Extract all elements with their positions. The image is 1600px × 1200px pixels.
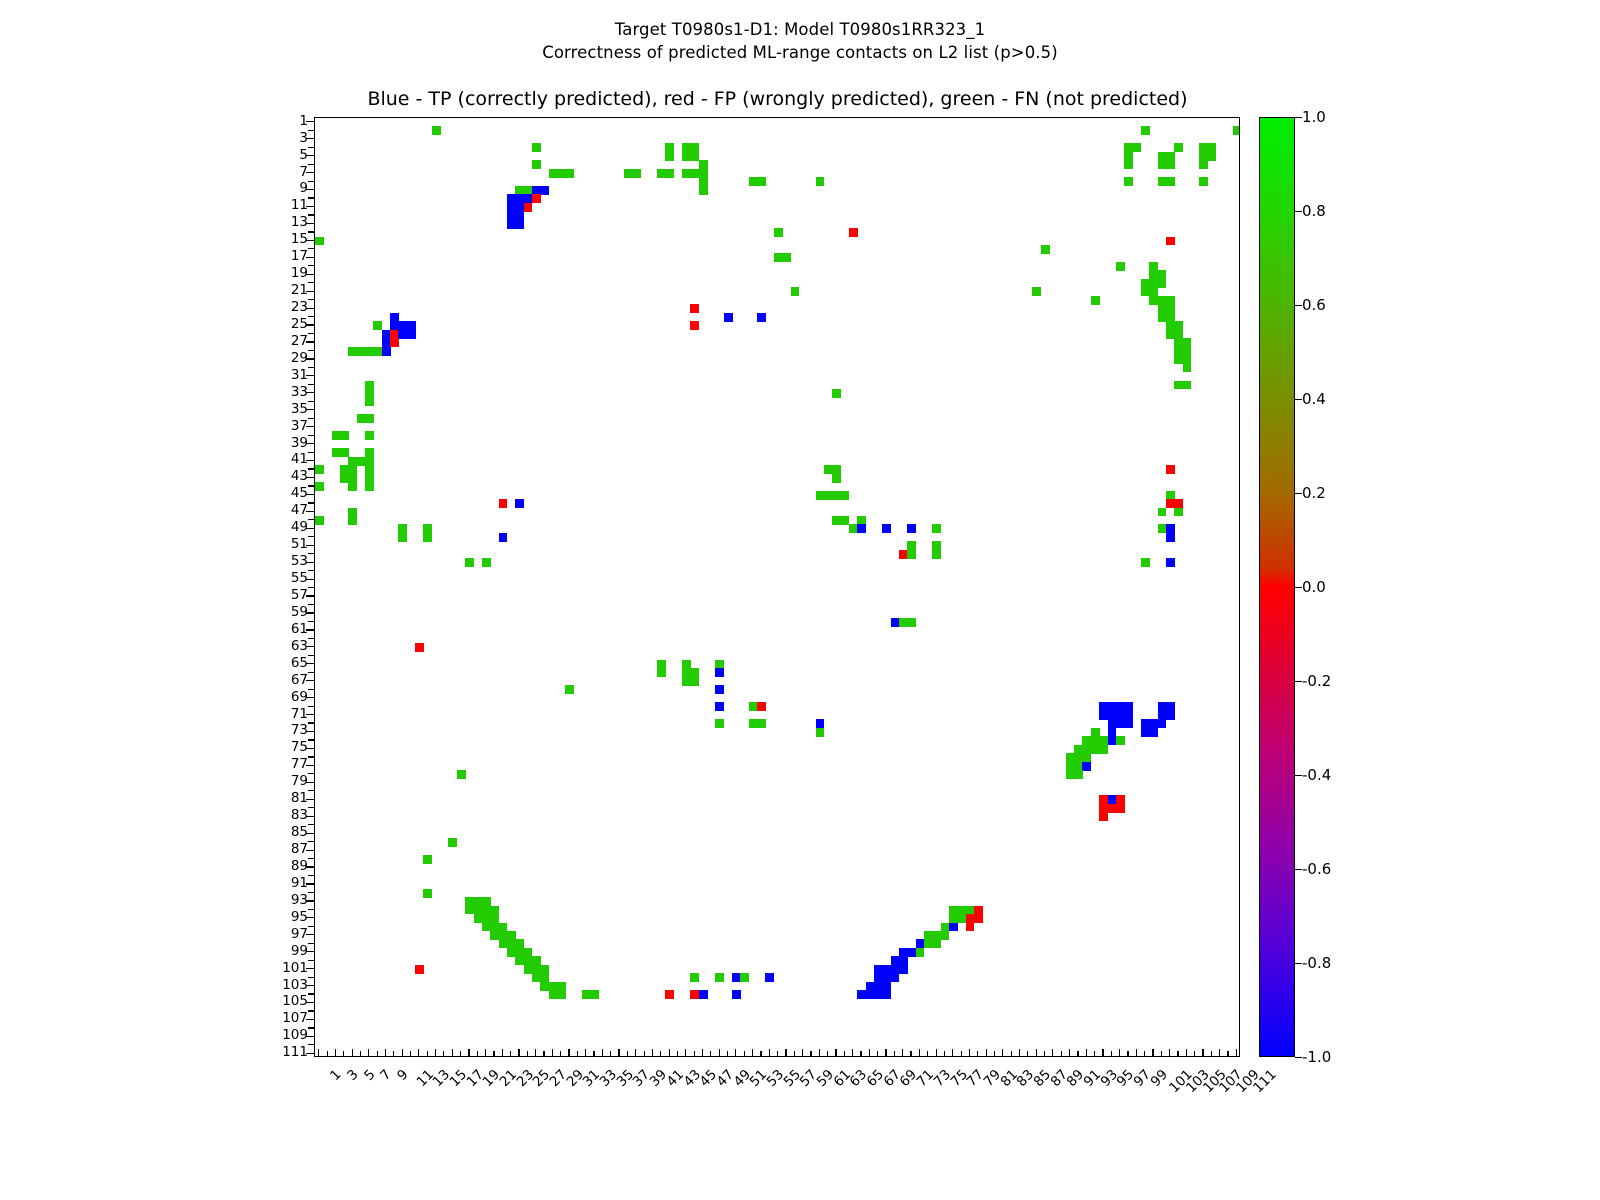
- x-tick: [352, 1049, 353, 1057]
- y-tick: [308, 468, 314, 469]
- y-tick: [308, 502, 314, 503]
- y-tick: [308, 621, 314, 622]
- x-axis-labels: 1357911131517192123252729313335373941434…: [314, 1062, 1274, 1182]
- y-axis-labels: 1357911131517192123252729313335373941434…: [262, 117, 308, 1057]
- y-tick-label: 53: [266, 555, 308, 569]
- y-tick-label: 61: [266, 623, 308, 637]
- x-tick: [1194, 1051, 1195, 1057]
- x-tick: [794, 1051, 795, 1057]
- y-tick: [308, 756, 314, 757]
- x-tick: [327, 1051, 328, 1057]
- x-tick: [644, 1051, 645, 1057]
- x-tick: [1227, 1051, 1228, 1057]
- y-tick-label: 49: [266, 521, 308, 535]
- y-tick-label: 93: [266, 894, 308, 908]
- x-tick: [460, 1051, 461, 1057]
- x-tick-label: 9: [395, 1068, 411, 1084]
- x-tick: [652, 1049, 653, 1057]
- x-tick: [1036, 1049, 1037, 1057]
- y-tick-label: 77: [266, 758, 308, 772]
- y-tick-label: 107: [266, 1012, 308, 1026]
- colorbar-labels: 1.00.80.60.40.20.0-0.2-0.4-0.6-0.8-1.0: [1302, 117, 1382, 1057]
- figure-title-line2: Correctness of predicted ML-range contac…: [0, 41, 1600, 64]
- x-tick: [360, 1051, 361, 1057]
- x-tick: [735, 1049, 736, 1057]
- colorbar-tick: [1295, 587, 1302, 588]
- y-tick-label: 33: [266, 386, 308, 400]
- y-tick: [308, 587, 314, 588]
- y-tick-label: 89: [266, 860, 308, 874]
- x-tick: [944, 1051, 945, 1057]
- y-tick-label: 17: [266, 250, 308, 264]
- y-tick: [308, 773, 314, 774]
- x-tick: [618, 1049, 619, 1057]
- y-tick: [308, 282, 314, 283]
- y-tick: [308, 943, 314, 944]
- x-tick: [727, 1051, 728, 1057]
- x-tick: [1202, 1049, 1203, 1057]
- x-tick: [777, 1051, 778, 1057]
- x-tick: [435, 1049, 436, 1057]
- x-tick: [819, 1049, 820, 1057]
- x-tick: [493, 1051, 494, 1057]
- x-axis-ticks: [314, 1057, 1240, 1058]
- x-tick: [827, 1051, 828, 1057]
- x-tick: [785, 1049, 786, 1057]
- y-tick: [308, 672, 314, 673]
- y-tick: [308, 739, 314, 740]
- colorbar-tick-label: 0.8: [1302, 204, 1326, 219]
- y-tick: [308, 960, 314, 961]
- x-tick: [427, 1051, 428, 1057]
- x-tick: [1236, 1049, 1237, 1057]
- colorbar-tick: [1295, 963, 1302, 964]
- x-tick: [969, 1049, 970, 1057]
- x-tick: [677, 1051, 678, 1057]
- y-tick-label: 69: [266, 691, 308, 705]
- x-tick: [1169, 1049, 1170, 1057]
- x-tick: [869, 1049, 870, 1057]
- y-tick-label: 103: [266, 979, 308, 993]
- x-tick: [719, 1049, 720, 1057]
- x-tick: [660, 1051, 661, 1057]
- x-tick-label: 5: [362, 1068, 378, 1084]
- y-tick-label: 47: [266, 504, 308, 518]
- y-tick: [308, 875, 314, 876]
- y-tick-label: 43: [266, 470, 308, 484]
- colorbar-tick-label: -0.4: [1302, 768, 1331, 783]
- colorbar-tick-label: 0.4: [1302, 392, 1326, 407]
- y-tick-label: 101: [266, 962, 308, 976]
- x-tick: [535, 1049, 536, 1057]
- x-tick: [527, 1051, 528, 1057]
- y-tick-label: 67: [266, 674, 308, 688]
- y-tick: [308, 993, 314, 994]
- colorbar-tick: [1295, 775, 1302, 776]
- x-tick: [543, 1051, 544, 1057]
- x-tick: [936, 1049, 937, 1057]
- y-tick: [308, 248, 314, 249]
- y-tick: [308, 689, 314, 690]
- x-tick: [1152, 1049, 1153, 1057]
- y-tick-label: 3: [266, 132, 308, 146]
- colorbar-tick: [1295, 1057, 1302, 1058]
- colorbar-tick-label: -0.8: [1302, 956, 1331, 971]
- x-tick: [385, 1049, 386, 1057]
- colorbar-tick-label: -0.2: [1302, 674, 1331, 689]
- y-tick-label: 25: [266, 318, 308, 332]
- y-tick: [308, 350, 314, 351]
- x-tick: [377, 1051, 378, 1057]
- colorbar-ticks: [1259, 117, 1295, 1057]
- x-tick: [368, 1049, 369, 1057]
- x-tick: [452, 1049, 453, 1057]
- x-tick: [502, 1049, 503, 1057]
- colorbar-tick: [1295, 869, 1302, 870]
- y-tick: [308, 214, 314, 215]
- x-tick: [635, 1049, 636, 1057]
- x-tick: [694, 1051, 695, 1057]
- x-tick: [986, 1049, 987, 1057]
- y-tick: [308, 553, 314, 554]
- x-tick: [560, 1051, 561, 1057]
- x-tick: [1052, 1049, 1053, 1057]
- y-tick: [308, 604, 314, 605]
- x-tick: [443, 1051, 444, 1057]
- x-tick: [593, 1051, 594, 1057]
- x-tick: [810, 1051, 811, 1057]
- x-tick: [1061, 1051, 1062, 1057]
- y-tick: [308, 892, 314, 893]
- x-tick: [1086, 1049, 1087, 1057]
- x-tick: [510, 1051, 511, 1057]
- y-tick-label: 91: [266, 877, 308, 891]
- y-tick-label: 55: [266, 572, 308, 586]
- y-tick: [308, 706, 314, 707]
- x-tick: [702, 1049, 703, 1057]
- x-tick: [1219, 1049, 1220, 1057]
- x-tick: [568, 1049, 569, 1057]
- y-tick: [308, 638, 314, 639]
- colorbar-tick: [1295, 399, 1302, 400]
- contact-map-figure: Target T0980s1-D1: Model T0980s1RR323_1 …: [0, 0, 1600, 1200]
- y-tick-label: 97: [266, 928, 308, 942]
- x-tick: [1161, 1051, 1162, 1057]
- x-tick: [994, 1051, 995, 1057]
- x-tick: [393, 1051, 394, 1057]
- x-tick: [1102, 1049, 1103, 1057]
- y-tick-label: 99: [266, 945, 308, 959]
- y-tick-label: 9: [266, 182, 308, 196]
- x-tick: [844, 1051, 845, 1057]
- y-tick-label: 7: [266, 166, 308, 180]
- y-tick-label: 1: [266, 115, 308, 129]
- y-tick-label: 39: [266, 437, 308, 451]
- y-tick: [308, 977, 314, 978]
- y-tick-label: 71: [266, 708, 308, 722]
- x-tick: [910, 1051, 911, 1057]
- y-tick-label: 95: [266, 911, 308, 925]
- y-tick-label: 105: [266, 995, 308, 1009]
- x-tick: [610, 1051, 611, 1057]
- y-tick: [308, 824, 314, 825]
- colorbar-tick-label: 0.0: [1302, 580, 1326, 595]
- y-tick: [308, 231, 314, 232]
- x-tick: [885, 1049, 886, 1057]
- x-tick: [602, 1049, 603, 1057]
- x-tick-label: 7: [379, 1068, 395, 1084]
- colorbar-tick: [1295, 493, 1302, 494]
- x-tick: [952, 1049, 953, 1057]
- axes-legend-title: Blue - TP (correctly predicted), red - F…: [0, 88, 1555, 110]
- x-tick: [318, 1049, 319, 1057]
- x-tick-label: 3: [345, 1068, 361, 1084]
- colorbar-tick: [1295, 211, 1302, 212]
- y-tick: [308, 299, 314, 300]
- x-tick: [710, 1051, 711, 1057]
- x-tick: [518, 1049, 519, 1057]
- y-tick-label: 57: [266, 589, 308, 603]
- colorbar-tick: [1295, 305, 1302, 306]
- colorbar-tick: [1295, 117, 1302, 118]
- y-tick: [308, 147, 314, 148]
- x-tick: [1136, 1049, 1137, 1057]
- x-tick: [860, 1051, 861, 1057]
- y-tick: [308, 722, 314, 723]
- x-tick: [1177, 1051, 1178, 1057]
- x-tick: [468, 1049, 469, 1057]
- x-tick: [685, 1049, 686, 1057]
- y-tick-label: 15: [266, 233, 308, 247]
- x-tick: [1011, 1051, 1012, 1057]
- x-tick: [335, 1049, 336, 1057]
- y-tick: [308, 130, 314, 131]
- y-tick-label: 111: [266, 1046, 308, 1060]
- y-tick-label: 65: [266, 657, 308, 671]
- y-tick-label: 63: [266, 640, 308, 654]
- y-tick: [308, 367, 314, 368]
- y-tick-label: 37: [266, 420, 308, 434]
- x-tick: [927, 1051, 928, 1057]
- x-tick: [669, 1049, 670, 1057]
- y-axis-ticks: [314, 117, 1240, 1057]
- y-tick-label: 41: [266, 453, 308, 467]
- y-tick: [308, 1010, 314, 1011]
- y-tick-label: 31: [266, 369, 308, 383]
- y-tick: [308, 316, 314, 317]
- y-tick: [308, 485, 314, 486]
- colorbar-tick-label: 0.2: [1302, 486, 1326, 501]
- y-tick-label: 27: [266, 335, 308, 349]
- x-tick: [894, 1051, 895, 1057]
- x-tick: [1019, 1049, 1020, 1057]
- y-tick-label: 29: [266, 352, 308, 366]
- y-tick-label: 81: [266, 792, 308, 806]
- x-tick: [760, 1051, 761, 1057]
- y-tick: [308, 570, 314, 571]
- y-tick-label: 23: [266, 301, 308, 315]
- y-tick-label: 109: [266, 1029, 308, 1043]
- x-tick: [852, 1049, 853, 1057]
- y-tick-label: 13: [266, 216, 308, 230]
- y-tick: [308, 655, 314, 656]
- x-tick: [961, 1051, 962, 1057]
- x-tick: [902, 1049, 903, 1057]
- figure-title-line1: Target T0980s1-D1: Model T0980s1RR323_1: [0, 18, 1600, 41]
- y-tick: [308, 807, 314, 808]
- y-tick: [308, 333, 314, 334]
- x-tick: [1002, 1049, 1003, 1057]
- y-tick: [308, 536, 314, 537]
- x-tick-label: 1: [329, 1068, 345, 1084]
- x-tick: [769, 1049, 770, 1057]
- x-tick: [1094, 1051, 1095, 1057]
- y-tick-label: 51: [266, 538, 308, 552]
- colorbar-tick-label: -1.0: [1302, 1050, 1331, 1065]
- y-tick: [308, 1027, 314, 1028]
- y-tick: [308, 841, 314, 842]
- y-tick-label: 85: [266, 826, 308, 840]
- x-tick: [585, 1049, 586, 1057]
- y-tick: [308, 790, 314, 791]
- colorbar-tick-label: -0.6: [1302, 862, 1331, 877]
- y-tick-label: 11: [266, 199, 308, 213]
- x-tick: [835, 1049, 836, 1057]
- y-tick: [308, 1044, 314, 1045]
- x-tick: [410, 1051, 411, 1057]
- x-tick: [552, 1049, 553, 1057]
- x-tick: [1186, 1049, 1187, 1057]
- x-tick: [1027, 1051, 1028, 1057]
- y-tick: [308, 164, 314, 165]
- y-tick: [308, 197, 314, 198]
- y-tick-label: 19: [266, 267, 308, 281]
- x-tick: [802, 1049, 803, 1057]
- colorbar-tick-label: 1.0: [1302, 110, 1326, 125]
- x-tick: [343, 1051, 344, 1057]
- y-tick: [308, 452, 314, 453]
- y-tick: [308, 265, 314, 266]
- y-tick-label: 75: [266, 741, 308, 755]
- y-tick-label: 79: [266, 775, 308, 789]
- x-tick: [877, 1051, 878, 1057]
- x-tick: [577, 1051, 578, 1057]
- x-tick: [418, 1049, 419, 1057]
- y-tick: [308, 401, 314, 402]
- x-tick: [485, 1049, 486, 1057]
- x-tick: [1111, 1051, 1112, 1057]
- x-tick: [1211, 1051, 1212, 1057]
- y-tick-label: 73: [266, 724, 308, 738]
- x-tick: [1044, 1051, 1045, 1057]
- colorbar-tick: [1295, 681, 1302, 682]
- y-tick: [308, 926, 314, 927]
- y-tick: [308, 858, 314, 859]
- y-tick: [308, 418, 314, 419]
- y-tick-label: 45: [266, 487, 308, 501]
- x-tick: [1144, 1051, 1145, 1057]
- x-tick: [1119, 1049, 1120, 1057]
- x-tick: [1069, 1049, 1070, 1057]
- colorbar-tick-label: 0.6: [1302, 298, 1326, 313]
- x-tick: [1077, 1051, 1078, 1057]
- x-tick: [752, 1049, 753, 1057]
- x-tick: [977, 1051, 978, 1057]
- y-tick: [308, 519, 314, 520]
- y-tick: [308, 181, 314, 182]
- x-tick: [1127, 1051, 1128, 1057]
- figure-title: Target T0980s1-D1: Model T0980s1RR323_1 …: [0, 18, 1600, 64]
- x-tick: [402, 1049, 403, 1057]
- x-tick: [477, 1051, 478, 1057]
- y-tick-label: 5: [266, 149, 308, 163]
- x-tick: [744, 1051, 745, 1057]
- y-tick-label: 83: [266, 809, 308, 823]
- x-tick: [627, 1051, 628, 1057]
- y-tick: [308, 384, 314, 385]
- y-tick-label: 59: [266, 606, 308, 620]
- y-tick-label: 87: [266, 843, 308, 857]
- x-tick: [919, 1049, 920, 1057]
- y-tick: [308, 909, 314, 910]
- y-tick-label: 21: [266, 284, 308, 298]
- y-tick: [308, 435, 314, 436]
- y-tick-label: 35: [266, 403, 308, 417]
